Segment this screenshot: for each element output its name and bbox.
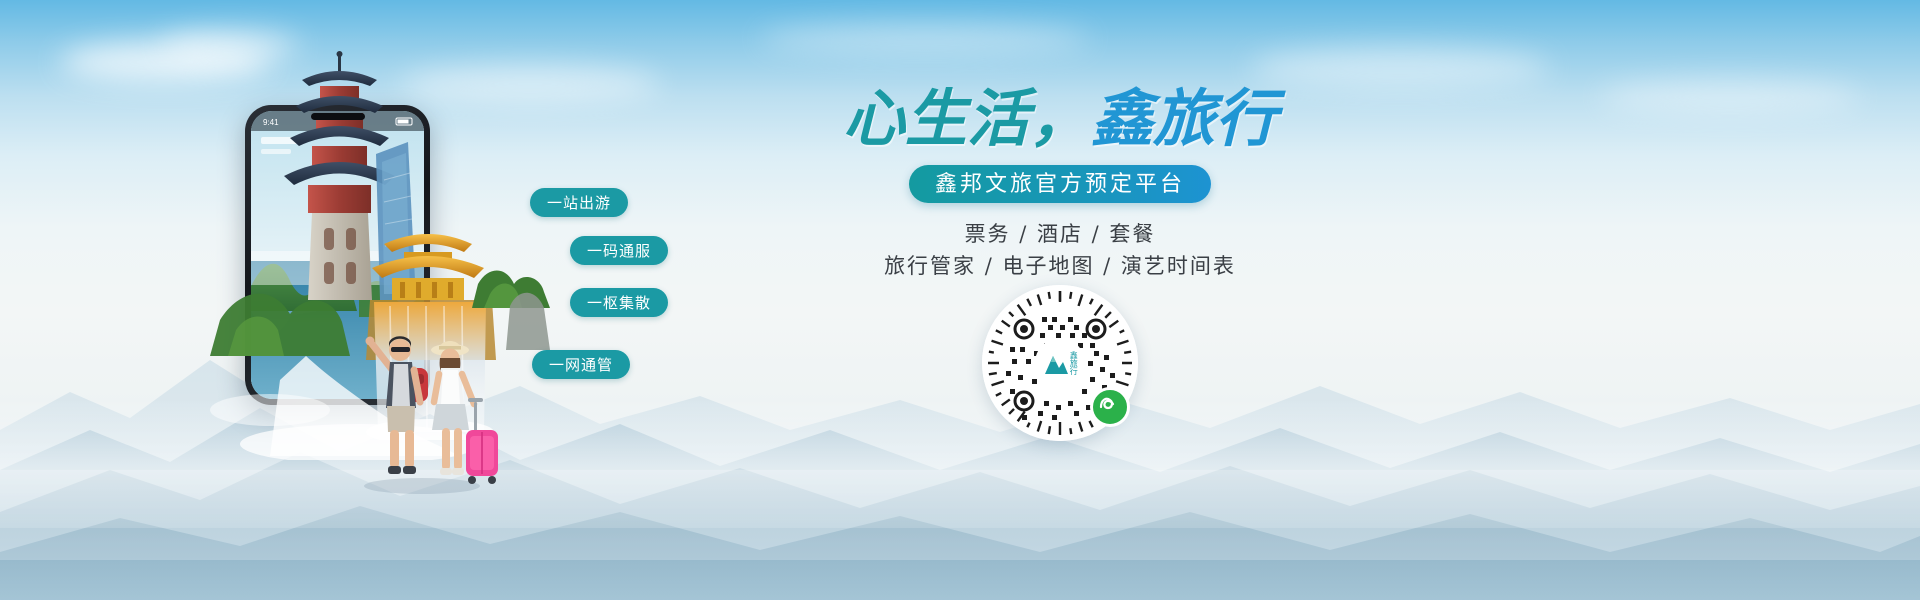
feature-pill-yizhanchuyou[interactable]: 一站出游 — [530, 188, 628, 217]
feature-pill-yishujisan[interactable]: 一枢集散 — [570, 288, 668, 317]
qr-code-circle[interactable]: 鑫旅行 — [982, 285, 1138, 441]
official-platform-badge[interactable]: 鑫邦文旅官方预定平台 — [909, 165, 1211, 203]
feature-pill-label: 一网通管 — [549, 354, 613, 375]
mountain-logo-icon — [1043, 348, 1069, 378]
qr-center-logo: 鑫旅行 — [1035, 338, 1085, 388]
feature-pill-label: 一站出游 — [547, 192, 611, 213]
official-platform-badge-label: 鑫邦文旅官方预定平台 — [935, 171, 1185, 196]
phone-notch — [311, 113, 365, 120]
travel-promo-banner: 9:41 — [0, 0, 1920, 600]
feature-pill-yiwangtongguan[interactable]: 一网通管 — [532, 350, 630, 379]
services-line-two: 旅行管家 / 电子地图 / 演艺时间表 — [800, 250, 1320, 280]
feature-pill-label: 一枢集散 — [587, 292, 651, 313]
wechat-miniprogram-icon — [1093, 390, 1121, 418]
headline-part-teal: 心生活， — [843, 82, 1091, 155]
headline-part-blue: 鑫旅行 — [1091, 82, 1277, 155]
wechat-miniprogram-badge — [1090, 387, 1130, 427]
feature-pill-yimatongfu[interactable]: 一码通服 — [570, 236, 668, 265]
headline: 心生活，鑫旅行 — [800, 88, 1320, 150]
qr-center-logo-text: 鑫旅行 — [1069, 351, 1077, 375]
feature-pill-label: 一码通服 — [587, 240, 651, 261]
promo-text-block: 心生活，鑫旅行 鑫邦文旅官方预定平台 票务 / 酒店 / 套餐 旅行管家 / 电… — [800, 60, 1320, 540]
services-line-one: 票务 / 酒店 / 套餐 — [800, 218, 1320, 248]
